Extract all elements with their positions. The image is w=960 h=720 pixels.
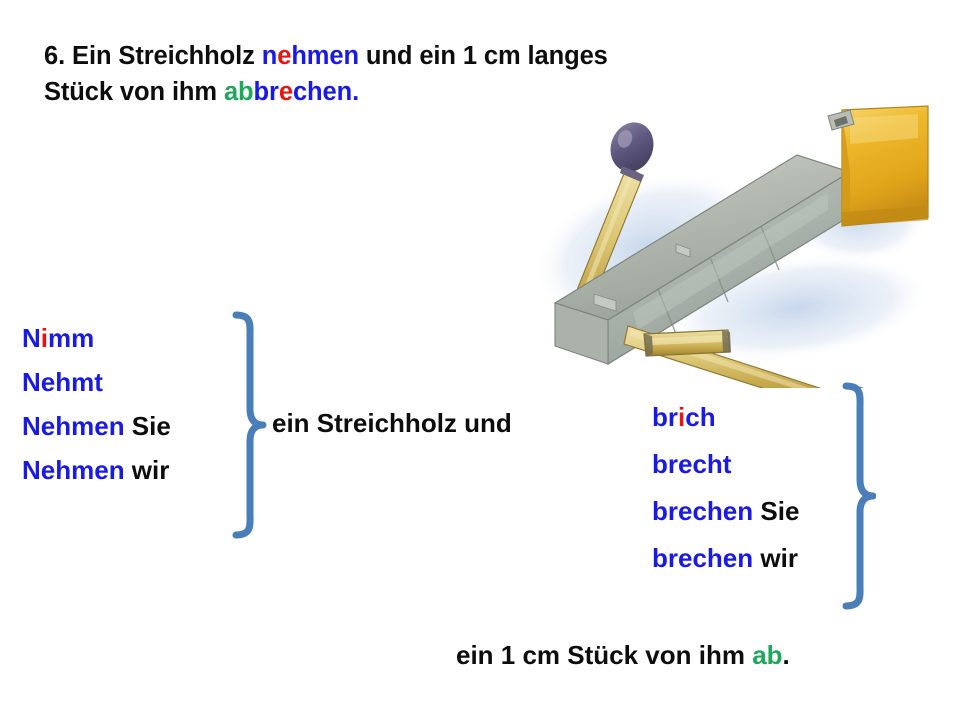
brechen-row: brich (652, 404, 852, 434)
matchbox-with-matches-illustration (498, 98, 950, 388)
left-curly-brace (222, 311, 268, 539)
brechen-stem: br (652, 402, 678, 432)
brechen-verb: brechen (652, 496, 753, 526)
instruction-line-1-part-1: n (262, 42, 277, 70)
nehmen-row: Nehmen wir (22, 457, 252, 487)
nehmen-verb: Nehmt (22, 367, 103, 397)
instruction-line-1-part-4: und ein 1 cm langes (359, 42, 608, 70)
brechen-imperative-list: brichbrechtbrechen Siebrechen wir (652, 404, 852, 592)
instruction-line-2-part-3: e (279, 78, 293, 106)
bottom-phrase-separable-prefix: ab (752, 640, 782, 670)
instruction-line-2-part-4: chen (293, 78, 352, 106)
nehmen-imperative-list: NimmNehmtNehmen SieNehmen wir (22, 325, 252, 501)
brechen-row: brechen wir (652, 545, 852, 575)
streichholzschachtel-gelbe-seite (828, 106, 928, 226)
nehmen-row: Nehmt (22, 369, 252, 399)
instruction-line-2-part-2: br (254, 78, 279, 106)
nehmen-row: Nimm (22, 325, 252, 355)
nehmen-verb: Nehmen (22, 411, 125, 441)
instruction-line-1-part-3: hmen (291, 42, 359, 70)
middle-phrase: ein Streichholz und (272, 408, 512, 439)
instruction-line-2-part-0: Stück von ihm (44, 78, 224, 106)
instruction-line-2-part-5: . (352, 78, 359, 106)
nehmen-ending: mm (48, 323, 94, 353)
instruction-line-1-part-2: e (277, 42, 291, 70)
nehmen-pronoun: Sie (125, 411, 171, 441)
bottom-phrase: ein 1 cm Stück von ihm ab. (456, 640, 790, 671)
instruction-line-2-part-1: ab (224, 78, 254, 106)
instruction-line-1-part-0: 6. Ein Streichholz (44, 42, 262, 70)
brechen-verb: brecht (652, 449, 731, 479)
bottom-phrase-period: . (783, 640, 790, 670)
right-curly-brace (830, 382, 876, 610)
nehmen-pronoun: wir (125, 455, 170, 485)
brechen-pronoun: Sie (753, 496, 799, 526)
nehmen-stem: N (22, 323, 41, 353)
brechen-row: brechen Sie (652, 498, 852, 528)
instruction-line-1: 6. Ein Streichholz nehmen und ein 1 cm l… (44, 38, 664, 74)
abgebrochenes-stueck (644, 330, 731, 356)
bottom-phrase-text: ein 1 cm Stück von ihm (456, 640, 752, 670)
brechen-row: brecht (652, 451, 852, 481)
nehmen-verb: Nehmen (22, 455, 125, 485)
brechen-verb: brechen (652, 543, 753, 573)
nehmen-vowel-change: i (41, 323, 48, 353)
brechen-pronoun: wir (753, 543, 798, 573)
brechen-ending: ch (685, 402, 715, 432)
nehmen-row: Nehmen Sie (22, 413, 252, 443)
